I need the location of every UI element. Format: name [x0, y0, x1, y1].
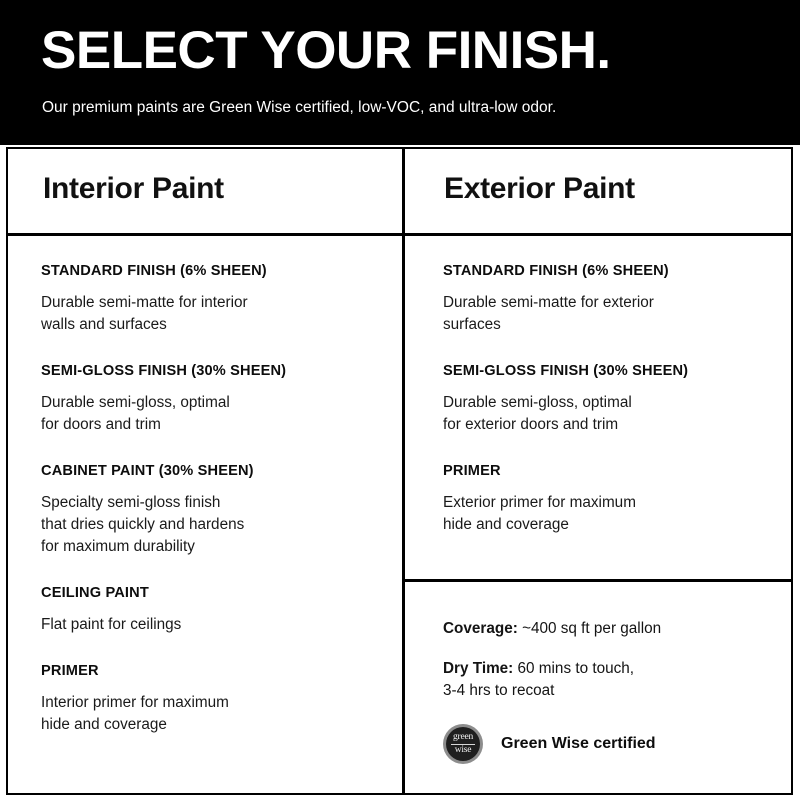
drytime-value: 60 mins to touch,	[518, 660, 635, 677]
entry-title: SEMI-GLOSS FINISH (30% SHEEN)	[443, 362, 783, 380]
list-item: SEMI-GLOSS FINISH (30% SHEEN) Durable se…	[443, 362, 783, 436]
entry-description: Durable semi-gloss, optimal for exterior…	[443, 392, 783, 436]
entry-description-line: for exterior doors and trim	[443, 414, 783, 436]
coverage-label: Coverage:	[443, 620, 518, 637]
entry-description-line: Durable semi-matte for exterior	[443, 292, 783, 314]
drytime-value-second-line: 3-4 hrs to recoat	[443, 680, 783, 702]
seal-bottom-text: wise	[451, 745, 475, 756]
entry-description: Durable semi-matte for exterior surfaces	[443, 292, 783, 336]
entry-description: Specialty semi-gloss finish that dries q…	[41, 492, 381, 558]
header-banner: SELECT YOUR FINISH. Our premium paints a…	[0, 0, 800, 145]
seal-inner: green wise	[451, 733, 475, 756]
column-vertical-divider	[402, 147, 405, 795]
drytime-label: Dry Time:	[443, 660, 513, 677]
green-wise-certification: green wise Green Wise certified	[443, 724, 656, 764]
entry-description-line: hide and coverage	[41, 714, 381, 736]
entry-title: SEMI-GLOSS FINISH (30% SHEEN)	[41, 362, 381, 380]
column-heading-exterior: Exterior Paint	[444, 172, 635, 206]
entry-description: Durable semi-gloss, optimal for doors an…	[41, 392, 381, 436]
entry-description-line: surfaces	[443, 314, 783, 336]
list-item: CABINET PAINT (30% SHEEN) Specialty semi…	[41, 462, 381, 558]
coverage-spec: Coverage: ~400 sq ft per gallon	[443, 618, 783, 640]
entry-description-line: Interior primer for maximum	[41, 692, 381, 714]
list-item: PRIMER Exterior primer for maximum hide …	[443, 462, 783, 536]
entry-description-line: that dries quickly and hardens	[41, 514, 381, 536]
entry-title: STANDARD FINISH (6% SHEEN)	[41, 262, 381, 280]
entry-description-line: Durable semi-gloss, optimal	[443, 392, 783, 414]
seal-top-text: green	[451, 733, 475, 744]
entry-description-line: Specialty semi-gloss finish	[41, 492, 381, 514]
entry-description-line: Durable semi-matte for interior	[41, 292, 381, 314]
list-item: SEMI-GLOSS FINISH (30% SHEEN) Durable se…	[41, 362, 381, 436]
paint-finish-comparison-page: SELECT YOUR FINISH. Our premium paints a…	[0, 0, 800, 800]
entry-description-line: Durable semi-gloss, optimal	[41, 392, 381, 414]
header-horizontal-divider	[6, 233, 793, 236]
page-subtitle: Our premium paints are Green Wise certif…	[42, 98, 556, 118]
entry-description-line: hide and coverage	[443, 514, 783, 536]
product-specs: Coverage: ~400 sq ft per gallon Dry Time…	[443, 618, 783, 702]
entry-title: PRIMER	[41, 662, 381, 680]
entry-title: CABINET PAINT (30% SHEEN)	[41, 462, 381, 480]
entry-description-line: walls and surfaces	[41, 314, 381, 336]
list-item: STANDARD FINISH (6% SHEEN) Durable semi-…	[41, 262, 381, 336]
exterior-specs-divider	[404, 579, 793, 582]
drytime-spec: Dry Time: 60 mins to touch, 3-4 hrs to r…	[443, 658, 783, 702]
entry-description-line: for doors and trim	[41, 414, 381, 436]
entry-description: Durable semi-matte for interior walls an…	[41, 292, 381, 336]
interior-paint-list: STANDARD FINISH (6% SHEEN) Durable semi-…	[41, 262, 381, 736]
coverage-value: ~400 sq ft per gallon	[522, 620, 661, 637]
entry-title: CEILING PAINT	[41, 584, 381, 602]
green-wise-label: Green Wise certified	[501, 735, 656, 753]
list-item: CEILING PAINT Flat paint for ceilings	[41, 584, 381, 636]
entry-description: Flat paint for ceilings	[41, 614, 381, 636]
exterior-paint-list: STANDARD FINISH (6% SHEEN) Durable semi-…	[443, 262, 783, 536]
green-wise-seal-icon: green wise	[443, 724, 483, 764]
entry-description-line: for maximum durability	[41, 536, 381, 558]
list-item: PRIMER Interior primer for maximum hide …	[41, 662, 381, 736]
list-item: STANDARD FINISH (6% SHEEN) Durable semi-…	[443, 262, 783, 336]
entry-description-line: Exterior primer for maximum	[443, 492, 783, 514]
entry-description: Interior primer for maximum hide and cov…	[41, 692, 381, 736]
page-title: SELECT YOUR FINISH.	[41, 22, 611, 80]
entry-title: STANDARD FINISH (6% SHEEN)	[443, 262, 783, 280]
entry-description-line: Flat paint for ceilings	[41, 614, 381, 636]
entry-description: Exterior primer for maximum hide and cov…	[443, 492, 783, 536]
entry-title: PRIMER	[443, 462, 783, 480]
column-heading-interior: Interior Paint	[43, 172, 224, 206]
